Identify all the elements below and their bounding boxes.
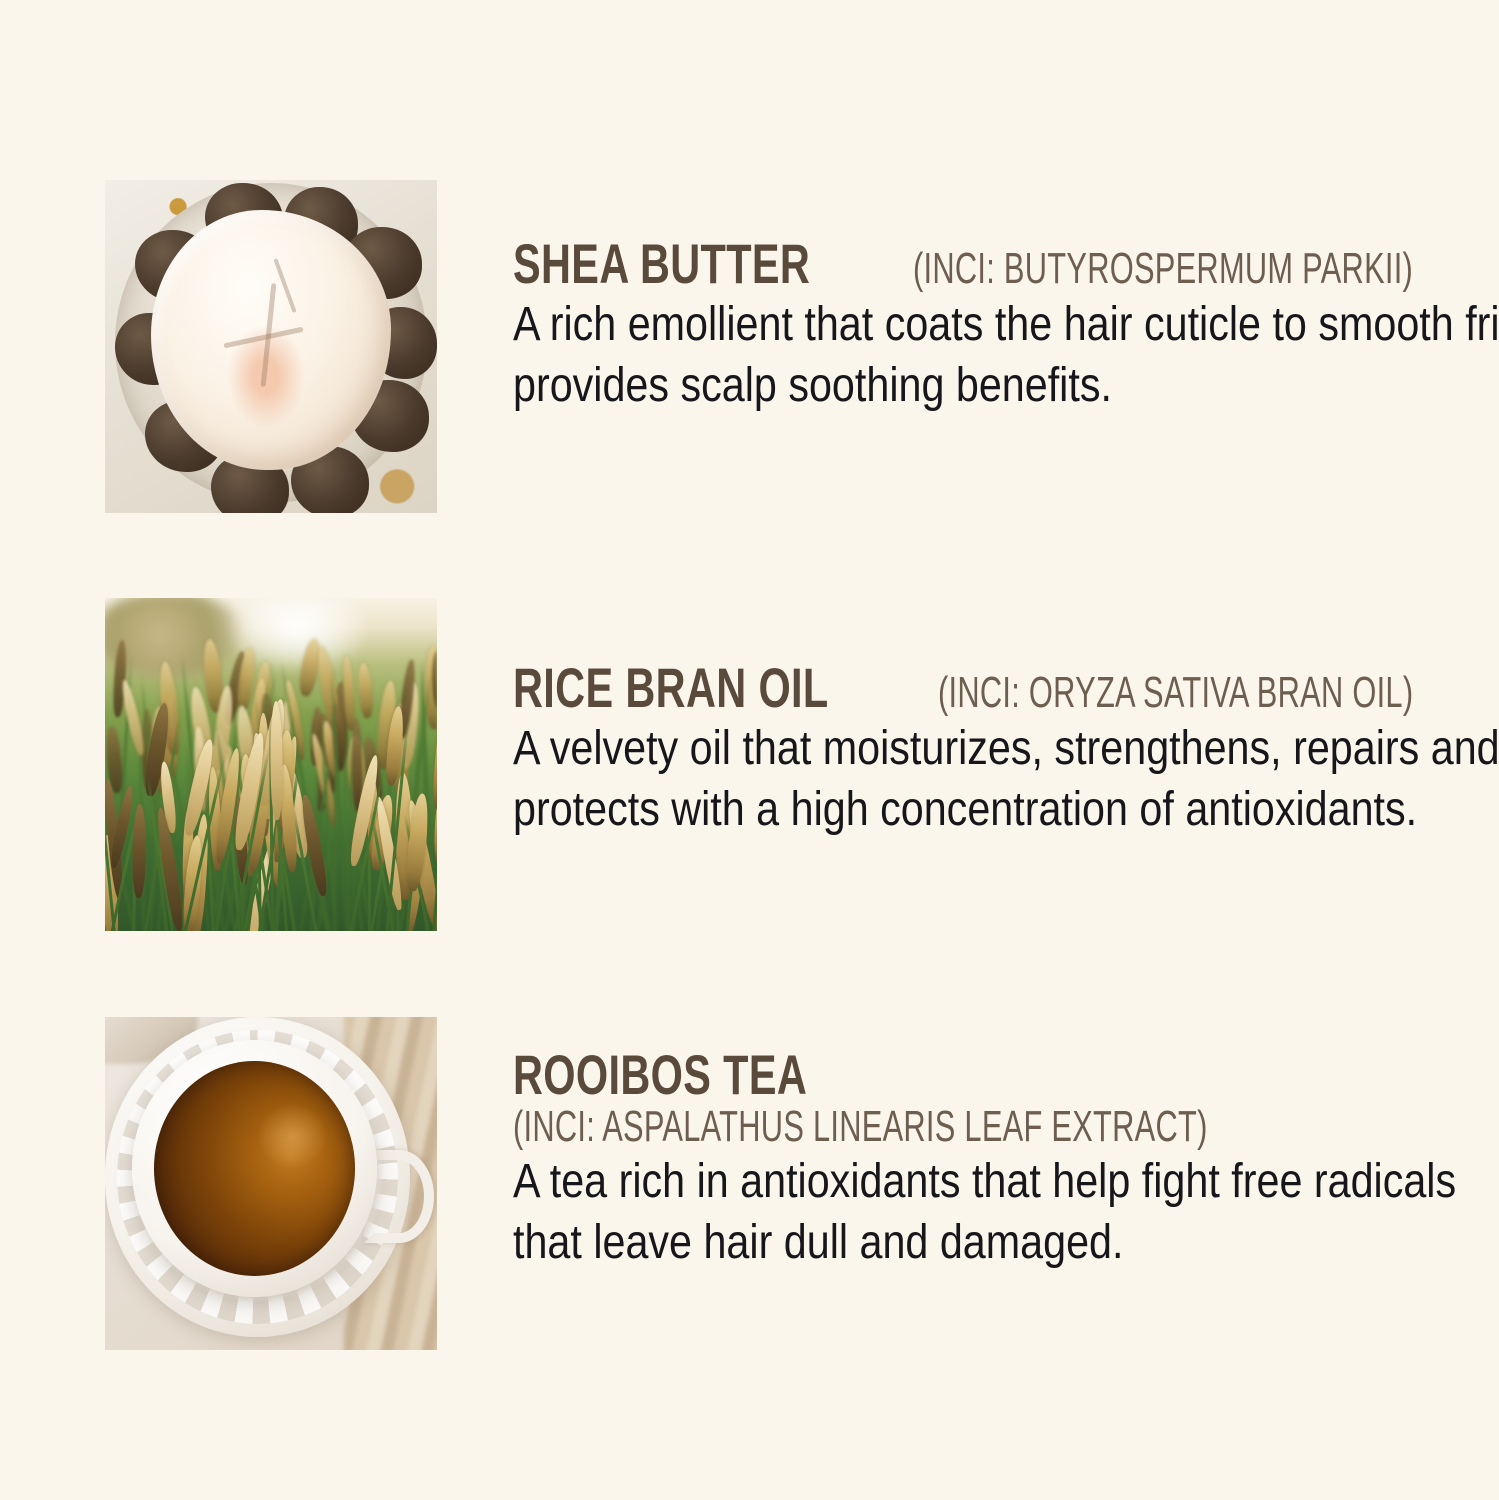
grain-head	[431, 707, 437, 809]
ingredient-name: RICE BRAN OIL	[513, 660, 829, 716]
ingredient-benefits-panel: SHEA BUTTER(INCI: BUTYROSPERMUM PARKII) …	[0, 0, 1499, 1500]
ingredient-text-shea-butter: SHEA BUTTER(INCI: BUTYROSPERMUM PARKII) …	[513, 180, 1499, 417]
ingredient-row-rooibos-tea: ROOIBOS TEA (INCI: ASPALATHUS LINEARIS L…	[0, 1017, 1499, 1357]
ingredient-image-rice-bran-oil	[105, 598, 437, 931]
ingredient-inci: (INCI: ORYZA SATIVA BRAN OIL)	[938, 671, 1413, 715]
ingredient-row-shea-butter: SHEA BUTTER(INCI: BUTYROSPERMUM PARKII) …	[0, 180, 1499, 520]
ingredient-inci: (INCI: BUTYROSPERMUM PARKII)	[913, 247, 1413, 291]
ingredient-inci: (INCI: ASPALATHUS LINEARIS LEAF EXTRACT)	[513, 1105, 1208, 1149]
ingredient-description: A tea rich in antioxidants that help fig…	[513, 1151, 1499, 1274]
ingredient-heading-rice-bran-oil: RICE BRAN OIL(INCI: ORYZA SATIVA BRAN OI…	[513, 660, 1499, 716]
teacup-shape	[132, 1040, 378, 1296]
ingredient-text-rice-bran-oil: RICE BRAN OIL(INCI: ORYZA SATIVA BRAN OI…	[513, 598, 1499, 841]
tea-liquid	[154, 1061, 355, 1276]
tea-surface-highlight	[258, 1104, 326, 1169]
ingredient-name: ROOIBOS TEA	[513, 1047, 807, 1103]
ingredient-description: A rich emollient that coats the hair cut…	[513, 294, 1499, 417]
ingredient-heading-rooibos-tea: ROOIBOS TEA (INCI: ASPALATHUS LINEARIS L…	[513, 1047, 1499, 1149]
grain-head	[132, 803, 147, 897]
ingredient-heading-shea-butter: SHEA BUTTER(INCI: BUTYROSPERMUM PARKII)	[513, 236, 1499, 292]
ingredient-row-rice-bran-oil: RICE BRAN OIL(INCI: ORYZA SATIVA BRAN OI…	[0, 598, 1499, 938]
ingredient-description: A velvety oil that moisturizes, strength…	[513, 718, 1499, 841]
ingredient-name: SHEA BUTTER	[513, 236, 810, 292]
ingredient-image-shea-butter	[105, 180, 437, 513]
ingredient-image-rooibos-tea	[105, 1017, 437, 1350]
ingredient-text-rooibos-tea: ROOIBOS TEA (INCI: ASPALATHUS LINEARIS L…	[513, 1017, 1499, 1274]
grass-foreground-layer	[105, 598, 437, 931]
